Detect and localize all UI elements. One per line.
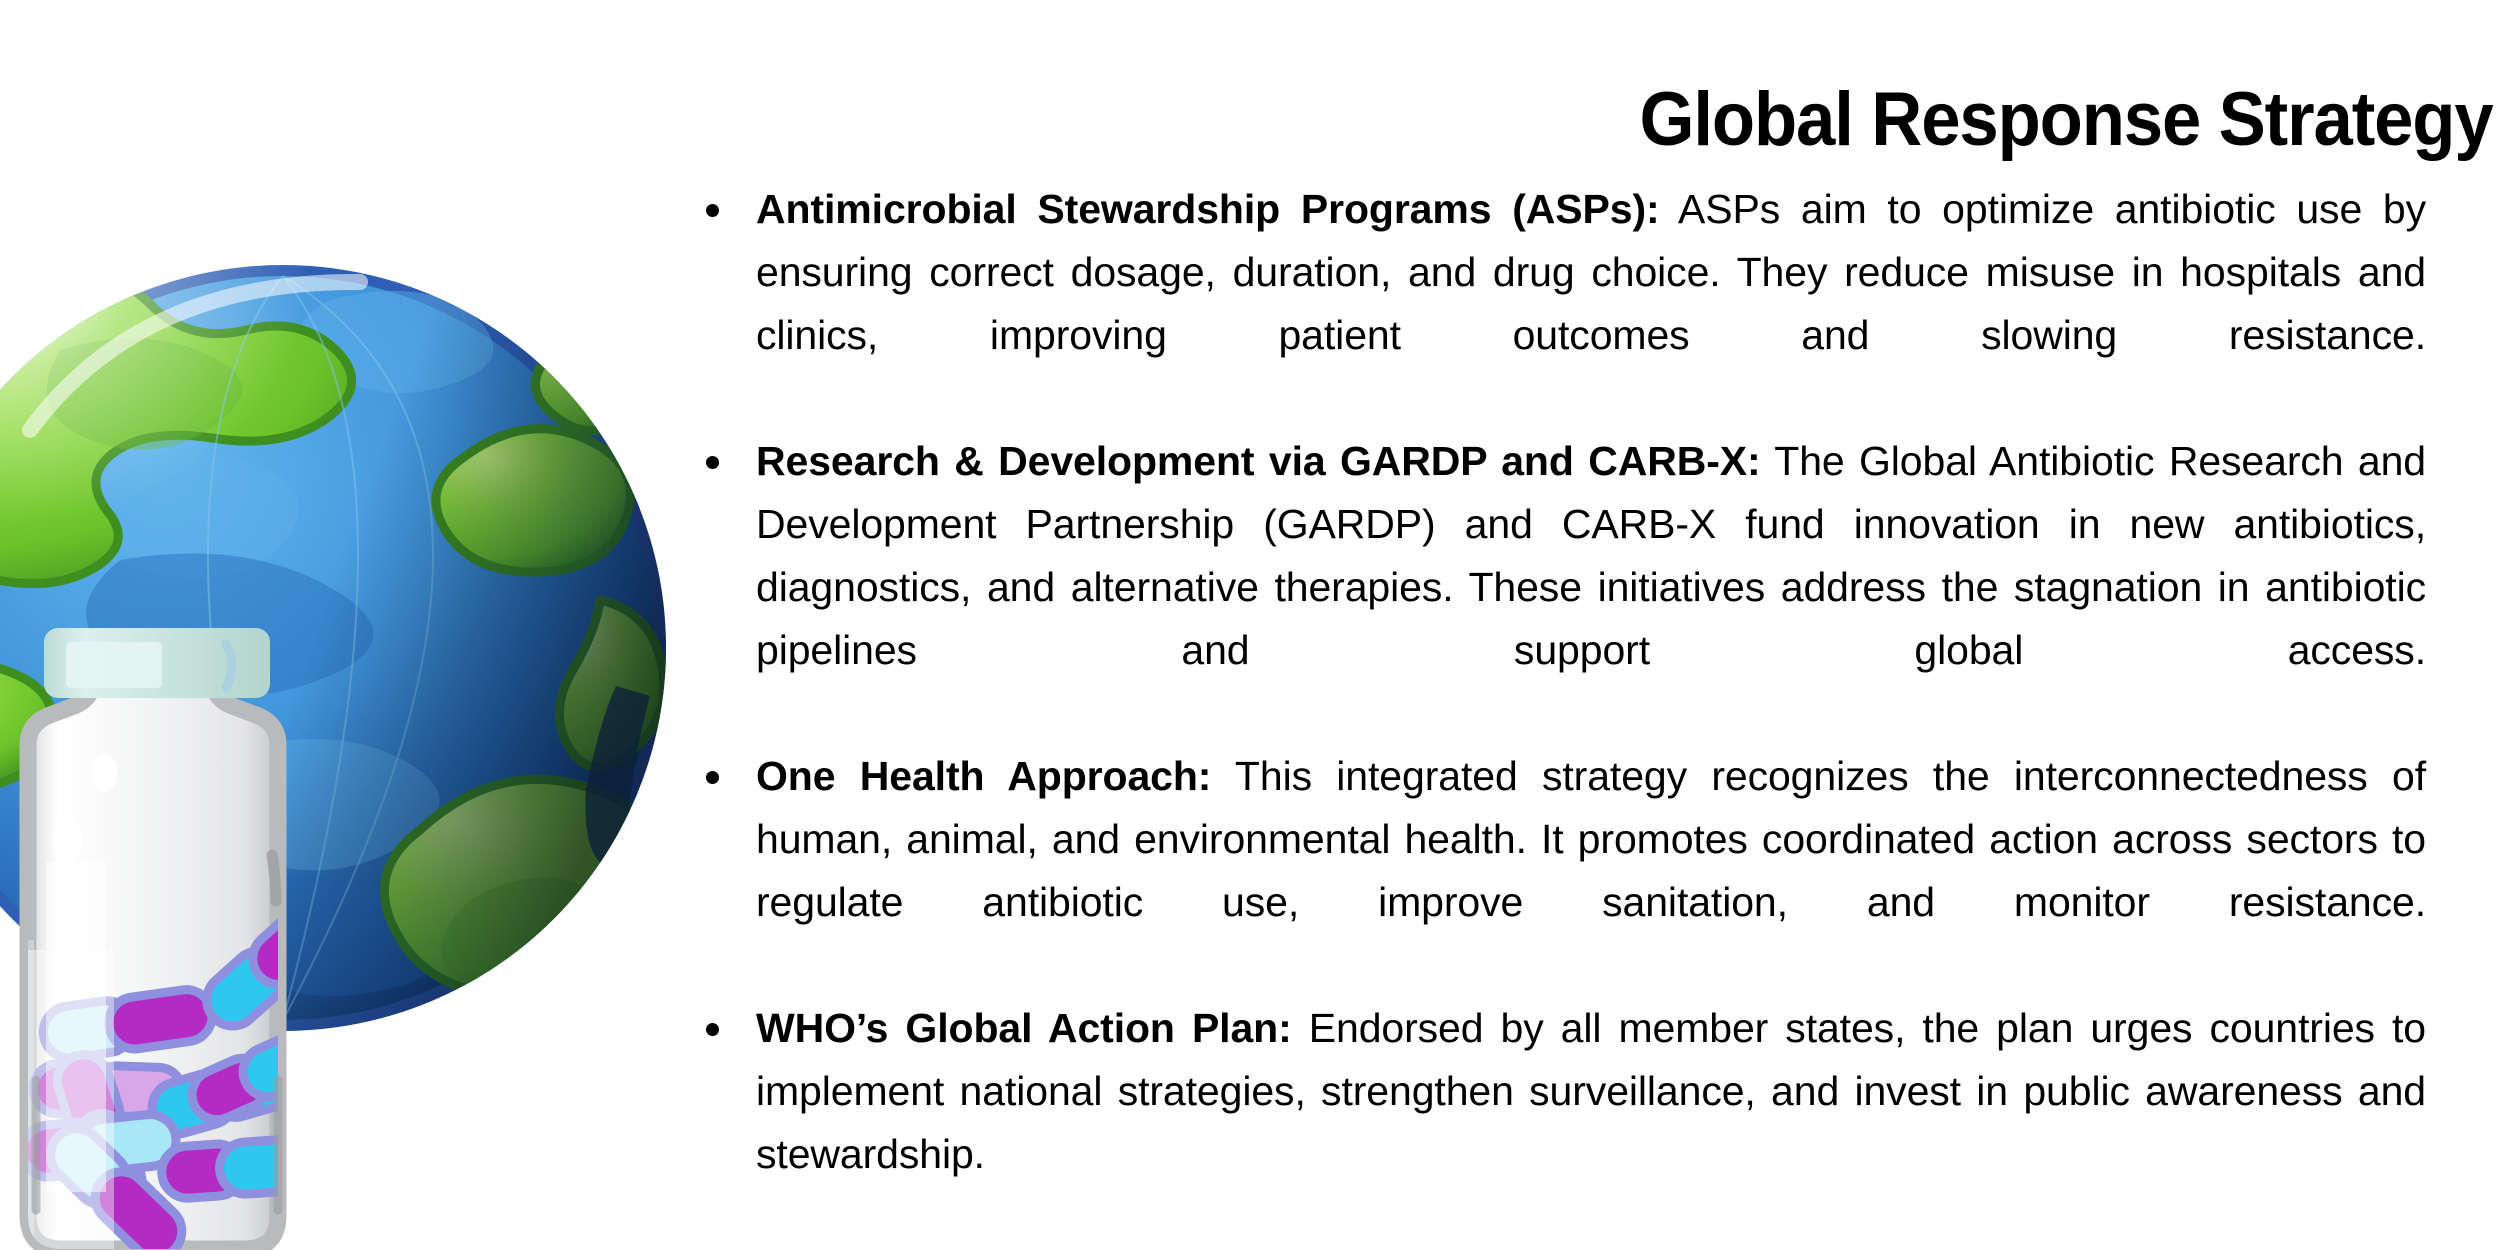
- bullet-lead: Antimicrobial Stewardship Programs (ASPs…: [756, 186, 1660, 232]
- slide-root: Global Response Strategy Antimicrobial S…: [0, 0, 2500, 1250]
- page-title: Global Response Strategy: [789, 77, 2500, 163]
- bottle-cap: [44, 628, 270, 698]
- bullet-lead: One Health Approach:: [756, 753, 1211, 799]
- content-column: Global Response Strategy Antimicrobial S…: [660, 0, 2500, 1250]
- list-item: One Health Approach: This integrated str…: [678, 745, 2426, 997]
- bullet-lead: WHO’s Global Action Plan:: [756, 1005, 1292, 1051]
- list-item: Research & Development via GARDP and CAR…: [678, 430, 2426, 745]
- earth-globe-with-pill-bottle-illustration: [0, 0, 700, 1250]
- list-item: WHO’s Global Action Plan: Endorsed by al…: [678, 997, 2426, 1249]
- bullet-lead: Research & Development via GARDP and CAR…: [756, 438, 1761, 484]
- strategy-bullet-list: Antimicrobial Stewardship Programs (ASPs…: [678, 178, 2426, 1249]
- list-item: Antimicrobial Stewardship Programs (ASPs…: [678, 178, 2426, 430]
